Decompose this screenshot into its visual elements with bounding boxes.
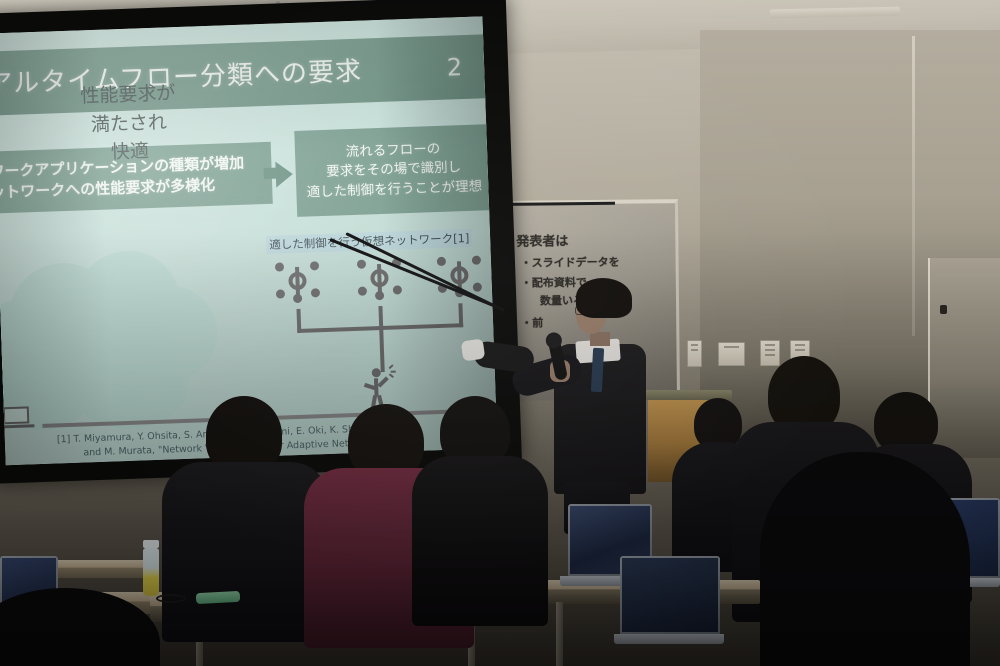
network-node-icon-2 <box>357 255 403 301</box>
diagram-label: 適した制御を行う仮想ネットワーク[1] <box>266 229 473 254</box>
desk-leg-4 <box>556 602 563 666</box>
presenter-hair <box>576 278 632 318</box>
attendee-dark-suit-left <box>176 396 316 616</box>
door-fixture <box>940 305 947 314</box>
sparkle-icon <box>385 366 397 378</box>
water-bottle[interactable] <box>143 540 159 596</box>
whiteboard-note-1: ・スライドデータを <box>521 254 620 271</box>
laptop-right-edge[interactable] <box>614 556 724 648</box>
foreground-attendee-right <box>760 452 970 666</box>
whiteboard-marker-tray <box>506 202 615 206</box>
whiteboard-heading: 発表者は <box>516 230 568 250</box>
solution-box: 流れるフローの 要求をその場で識別し 適した制御を行うことが理想 <box>294 124 493 217</box>
diagram-link-center-drop <box>378 306 384 372</box>
laptop-icon <box>0 406 35 431</box>
green-pencil-case[interactable] <box>196 591 241 604</box>
presenter-necktie <box>591 348 604 393</box>
wall-outlet-plate[interactable] <box>718 342 745 366</box>
presenter-white-glove <box>461 339 486 362</box>
network-node-icon-1 <box>275 258 321 304</box>
slide-page-number: 2 <box>446 53 462 82</box>
cloud-text: 性能要求が 満たされ 快適 <box>32 77 225 169</box>
attendee-body <box>412 456 548 626</box>
attendee-dark-right <box>420 396 540 606</box>
arrow-right-icon <box>275 161 293 188</box>
wall-corner-edge <box>912 36 915 336</box>
cable-coil <box>156 594 186 603</box>
presentation-room-photo: 発表者は ・スライドデータを ・配布資料で 数量いる ・前 アルタイムフロー分類… <box>0 0 1000 666</box>
wall-switch-plate-1[interactable] <box>687 340 702 367</box>
presenter-neck <box>590 332 610 346</box>
